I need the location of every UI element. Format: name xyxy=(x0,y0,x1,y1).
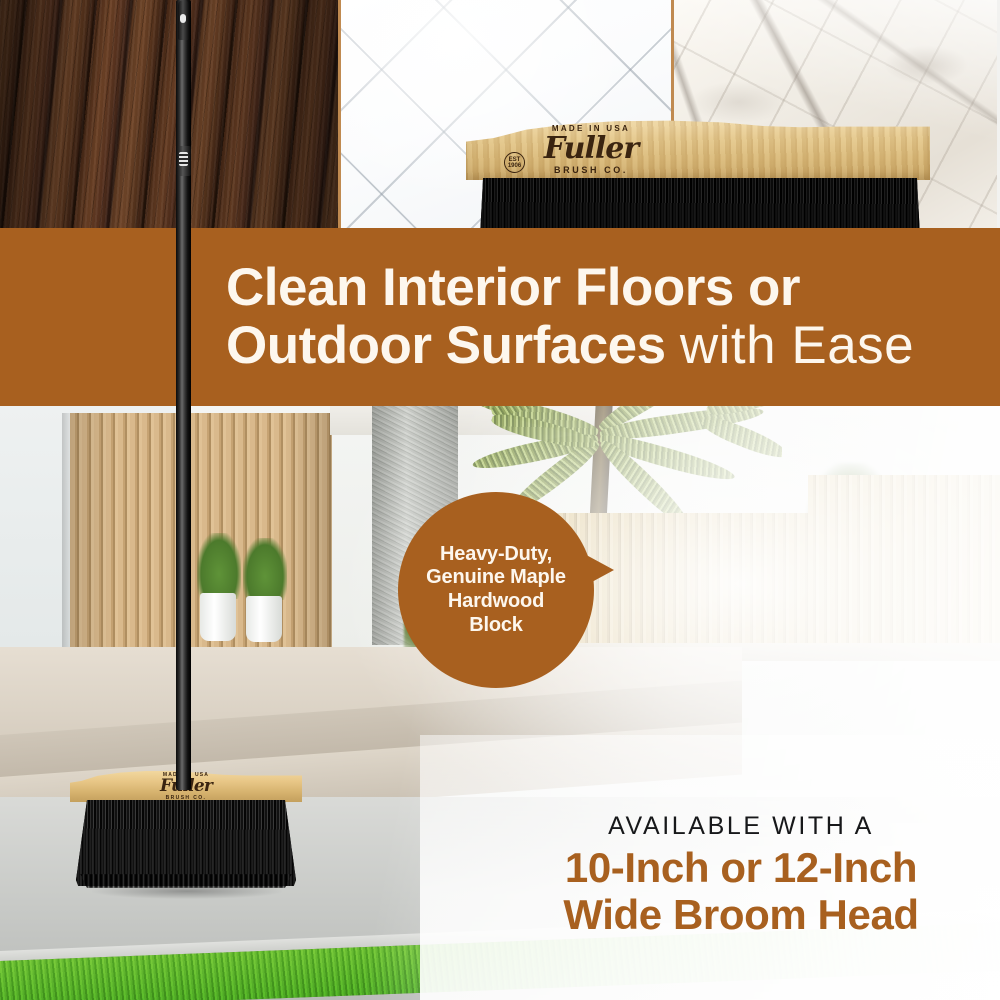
callout-line-4: Block xyxy=(426,614,566,638)
planter-plant xyxy=(243,538,287,600)
est-1906-seal-icon: EST 1906 xyxy=(504,152,525,173)
white-planter xyxy=(200,593,236,641)
callout-line-3: Hardwood xyxy=(426,590,566,614)
white-planter xyxy=(246,596,282,642)
standing-broom-head: MADE IN USA Fuller BRUSH CO. xyxy=(62,770,310,910)
caption-line-2: Wide Broom Head xyxy=(500,891,982,938)
headline-banner: Clean Interior Floors or Outdoor Surface… xyxy=(0,228,1000,406)
standing-broom-bristles xyxy=(76,800,296,886)
broom-handle-joint-marking xyxy=(179,152,188,166)
bottom-caption: AVAILABLE WITH A 10-Inch or 12-Inch Wide… xyxy=(500,812,982,938)
headline-line-2-light: with Ease xyxy=(680,316,914,375)
hang-hole-icon xyxy=(180,14,186,23)
hardwood-shading xyxy=(0,0,338,232)
caption-line-1: 10-Inch or 12-Inch xyxy=(500,844,982,891)
standing-broom-ground-shadow xyxy=(92,886,282,899)
brush-co-text: BRUSH CO. xyxy=(496,165,686,175)
product-banner-canvas: MADE IN USA Fuller BRUSH CO. EST 1906 He… xyxy=(0,0,1000,1000)
floor-panel-hardwood xyxy=(0,0,338,232)
callout-line-2: Genuine Maple xyxy=(426,566,566,590)
headline-line-1: Clean Interior Floors or xyxy=(226,261,982,315)
callout-circle: Heavy-Duty, Genuine Maple Hardwood Block xyxy=(398,492,594,688)
feature-callout-badge: Heavy-Duty, Genuine Maple Hardwood Block xyxy=(398,492,594,688)
headline-line-2-bold: Outdoor Surfaces xyxy=(226,316,666,375)
fuller-brand-label: MADE IN USA Fuller BRUSH CO. EST 1906 xyxy=(496,124,686,175)
broom-handle-rod xyxy=(176,0,191,790)
caption-eyebrow: AVAILABLE WITH A xyxy=(500,812,982,841)
callout-text: Heavy-Duty, Genuine Maple Hardwood Block xyxy=(426,543,566,637)
headline-line-2: Outdoor Surfaces with Ease xyxy=(226,318,982,373)
callout-line-1: Heavy-Duty, xyxy=(426,543,566,567)
planter-plant xyxy=(197,533,241,599)
wood-fence-right xyxy=(808,475,1000,650)
broom-handle xyxy=(176,0,191,790)
